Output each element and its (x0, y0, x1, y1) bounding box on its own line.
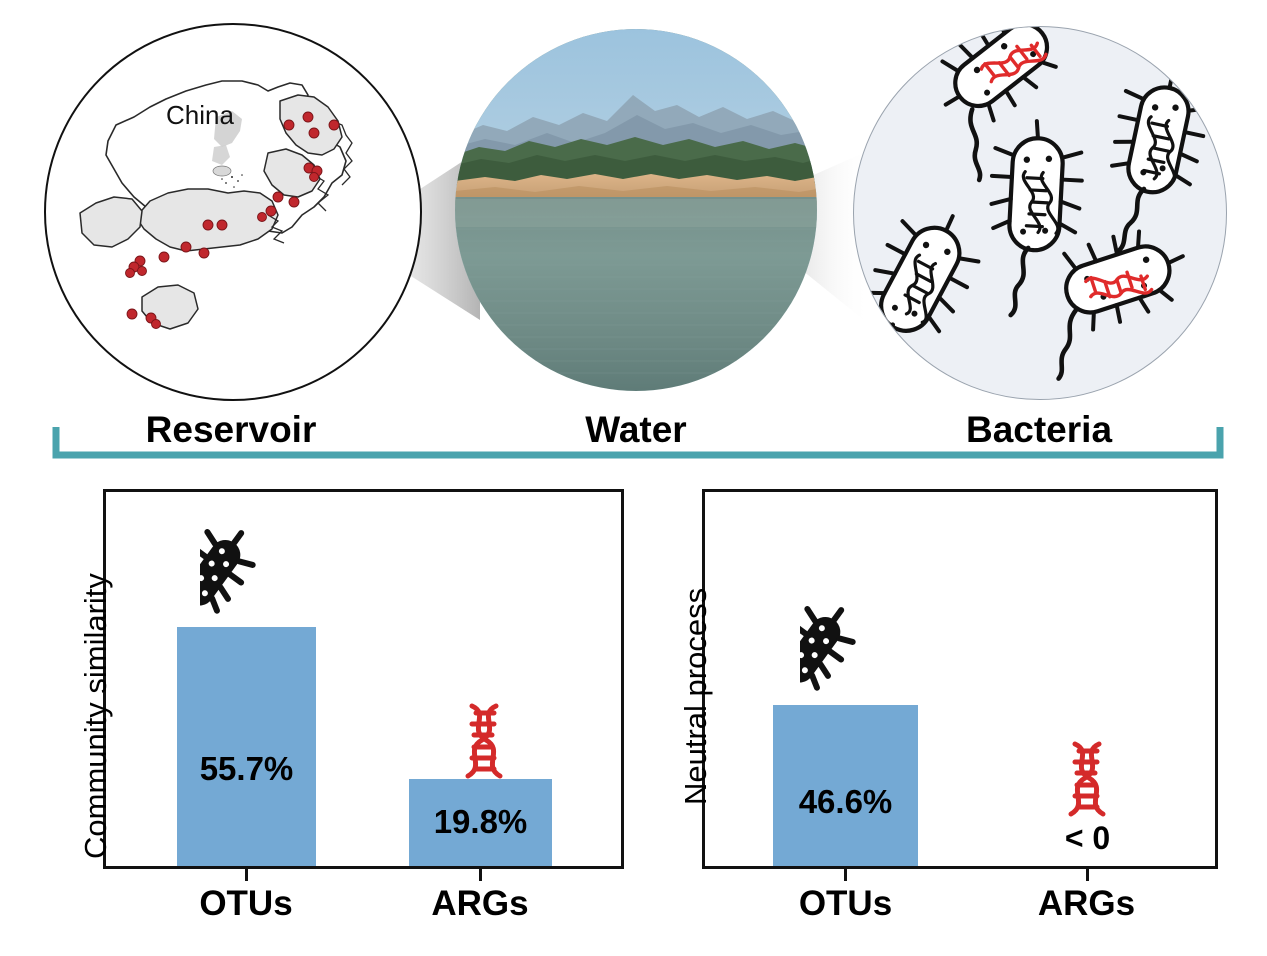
dna-helix-icon (452, 702, 514, 784)
bacteria-icon (200, 528, 300, 624)
panelB-category-otus: OTUs (773, 884, 918, 924)
teal-bracket (52, 425, 1224, 460)
panelA-bar-otus (177, 627, 316, 866)
panelA-tick-otus (245, 869, 248, 881)
panelB-category-args: ARGs (1014, 884, 1159, 924)
panelA-y-axis-label: Community similarity (78, 573, 114, 859)
reservoir-map-circle: China (44, 23, 422, 401)
panelA-value-otus: 55.7% (177, 750, 316, 788)
panelB-tick-otus (844, 869, 847, 881)
panelA-category-args: ARGs (408, 884, 552, 924)
panelA-tick-args (479, 869, 482, 881)
bacteria-circle (853, 26, 1227, 400)
bacteria-cluster-icon (854, 27, 1226, 399)
panelB-y-axis-label: Neutral process (678, 588, 714, 805)
panelA-category-otus: OTUs (175, 884, 317, 924)
bacteria-icon (800, 605, 900, 701)
panelB-value-otus: 46.6% (773, 783, 918, 821)
panelB-tick-args (1086, 869, 1089, 881)
map-country-label: China (166, 100, 234, 131)
china-map-icon (46, 25, 416, 395)
water-photo-circle (455, 29, 817, 391)
dna-helix-icon (1055, 740, 1117, 822)
reservoir-photo-icon (455, 29, 817, 391)
panelA-value-args: 19.8% (409, 803, 552, 841)
panelB-value-args: < 0 (1015, 820, 1160, 857)
